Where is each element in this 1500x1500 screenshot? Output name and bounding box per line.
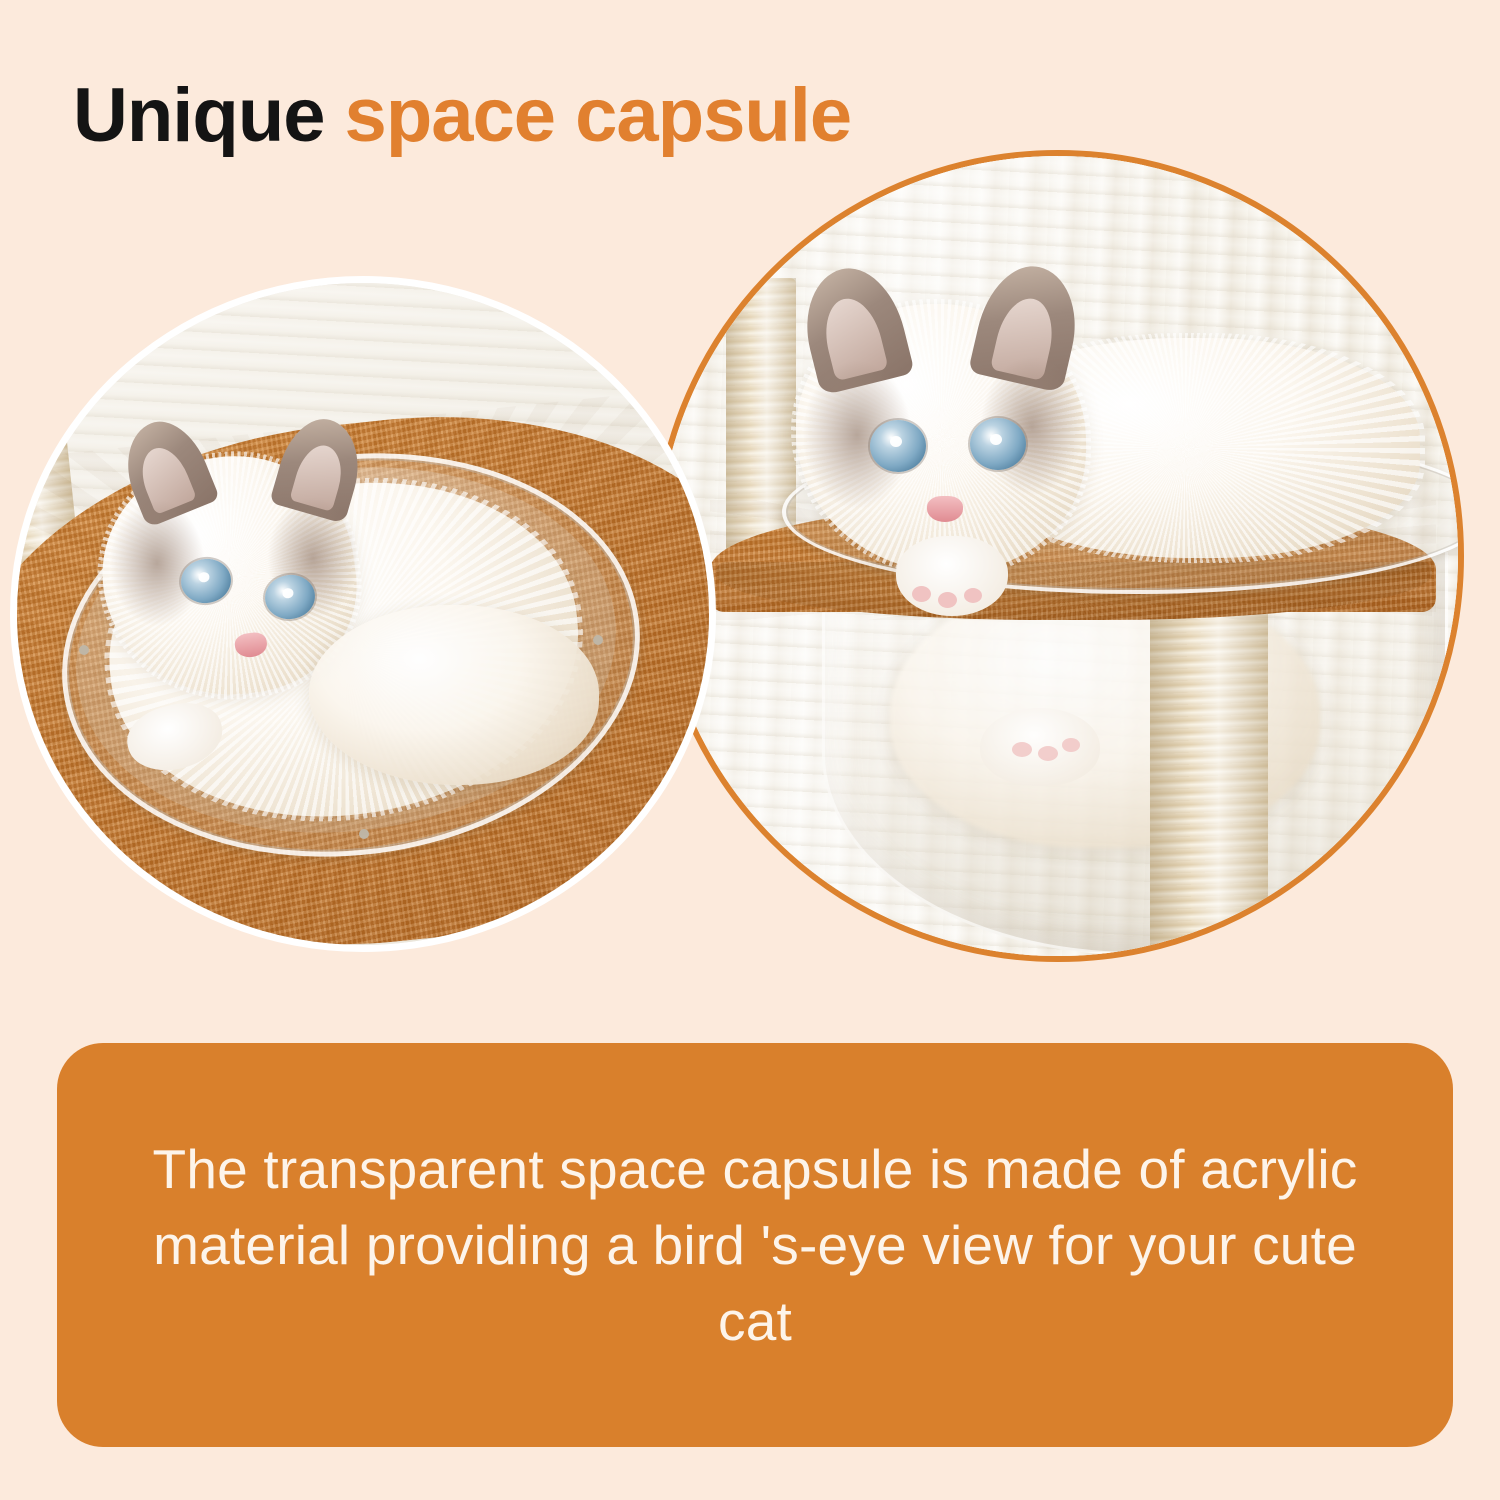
title-word-primary: Unique bbox=[73, 73, 325, 158]
feature-panel: Uniquespace capsule bbox=[0, 0, 1500, 1500]
platform-screw bbox=[101, 873, 127, 899]
cat-nose bbox=[927, 496, 963, 522]
cat-tail bbox=[309, 605, 599, 785]
caption-box: The transparent space capsule is made of… bbox=[57, 1043, 1453, 1447]
title-word-accent: space capsule bbox=[345, 73, 852, 158]
paw-toe bbox=[964, 588, 982, 603]
cat-eye-left bbox=[870, 420, 926, 472]
scene-side-view bbox=[652, 150, 1464, 962]
cat-hind-paw bbox=[980, 708, 1100, 786]
paw-pad bbox=[1038, 746, 1058, 761]
paw-pad bbox=[1012, 742, 1032, 757]
caption-text: The transparent space capsule is made of… bbox=[57, 1131, 1453, 1359]
rim-screw bbox=[593, 635, 603, 645]
paw-toe bbox=[938, 592, 957, 608]
page-title: Uniquespace capsule bbox=[73, 78, 851, 154]
rim-screw bbox=[359, 829, 369, 839]
scene-top-view bbox=[10, 276, 716, 952]
cat-eye-right bbox=[970, 418, 1026, 470]
paw-toe bbox=[912, 586, 931, 602]
rim-screw bbox=[79, 645, 89, 655]
sisal-scratching-post bbox=[1150, 586, 1268, 962]
left-photo-top-view bbox=[10, 276, 716, 952]
paw-pad bbox=[1062, 738, 1080, 752]
right-photo-side-view bbox=[652, 150, 1464, 962]
